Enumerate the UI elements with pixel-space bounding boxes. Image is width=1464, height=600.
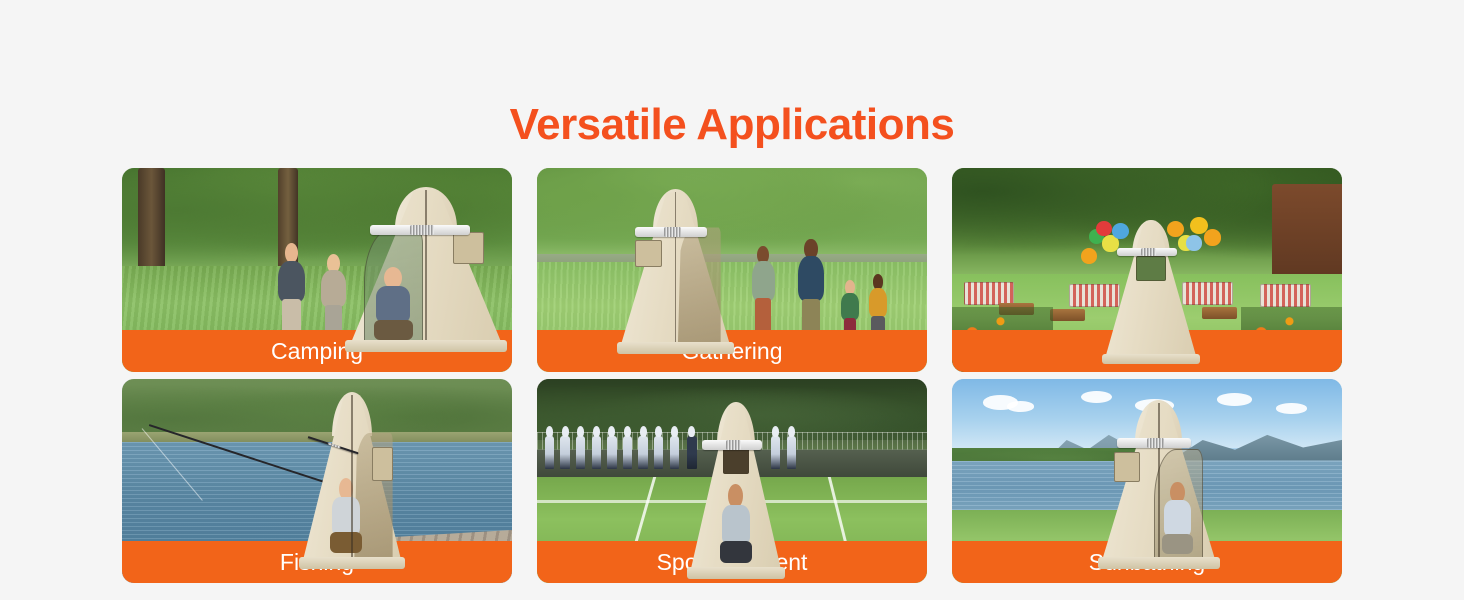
application-card-gathering[interactable]: Gathering [537,168,927,372]
balloon [1204,229,1221,245]
sitter-torso [376,286,410,323]
person-inside-tent [330,478,362,553]
application-card-sunbathing[interactable]: Sunbathing [952,379,1342,583]
tent-base [1102,354,1199,364]
player-figure [638,436,647,469]
player-figure [787,436,796,469]
tent-mesh-window [372,447,392,481]
player-figure [607,436,616,469]
player-figure [670,436,679,469]
picnic-table [1260,284,1311,306]
tent-seam [351,395,353,566]
adult-figure-man [798,239,823,341]
pop-up-privacy-tent [619,192,732,351]
player-figure [560,436,569,469]
tent-base [299,557,404,569]
pop-up-privacy-tent [1100,403,1217,566]
tent-mesh-window [635,240,662,267]
balloon [1081,248,1097,264]
application-card-camping[interactable]: Camping [122,168,512,372]
applications-grid: Camping [122,168,1342,583]
player-figure [623,436,632,469]
tree-canopy [537,168,927,262]
sitter-legs [330,532,361,553]
cloud [1007,401,1034,411]
tent-support-rod [702,440,762,450]
tent-seam [675,192,677,351]
player-figure [545,436,554,469]
page-title: Versatile Applications [0,99,1464,151]
tent-door-flap [678,227,721,351]
player-figure [576,436,585,469]
torso [798,256,823,301]
tent-base [617,342,735,353]
child-legs [325,305,342,334]
cloud [1276,403,1307,413]
torso [869,288,888,318]
application-card-party[interactable]: Party [952,168,1342,372]
wooden-bench [1050,309,1085,321]
tent-mesh-window [1114,452,1140,481]
tent-seam [425,190,427,349]
tent-support-rod [1117,438,1192,448]
wooden-bench [1202,307,1237,319]
sitter-legs [374,320,413,340]
sitter-torso [332,497,359,535]
child-figure [278,243,305,333]
pop-up-privacy-tent [348,190,504,349]
tent-base [1098,557,1220,568]
tent-mesh-window [723,448,749,474]
child-legs [282,299,301,333]
sitter-legs [720,541,752,563]
adult-figure-woman [752,246,775,340]
tent-base [345,340,507,351]
person-inside-tent [719,484,753,563]
person-inside-tent [373,267,414,340]
sitter-torso [1164,500,1192,536]
child-body [278,261,305,302]
cloud [1217,393,1252,405]
application-card-fishing[interactable]: Fishing [122,379,512,583]
tent-support-rod [635,227,707,237]
torso [752,261,775,300]
torso [841,293,859,320]
player-figure [592,436,601,469]
picnic-table [964,282,1015,304]
sitter-legs [1162,534,1193,554]
pop-up-privacy-tent [689,406,783,577]
tent-support-rod [370,225,470,235]
tent-support-rod [1117,248,1177,256]
tent-mesh-window [1136,256,1166,281]
child-figure [321,254,346,334]
player-figure [654,436,663,469]
tent-mesh-window [453,232,484,264]
pop-up-privacy-tent [1104,223,1198,362]
application-card-sporting-event[interactable]: Sporting Event [537,379,927,583]
tent-body [1104,223,1198,362]
tent-base [687,567,784,579]
pop-up-privacy-tent [301,395,402,566]
sitter-torso [722,505,750,544]
child-body [321,270,346,307]
tent-seam [1158,403,1160,566]
versatile-applications-section: Versatile Applications [0,0,1464,600]
person-inside-tent [1161,482,1194,554]
